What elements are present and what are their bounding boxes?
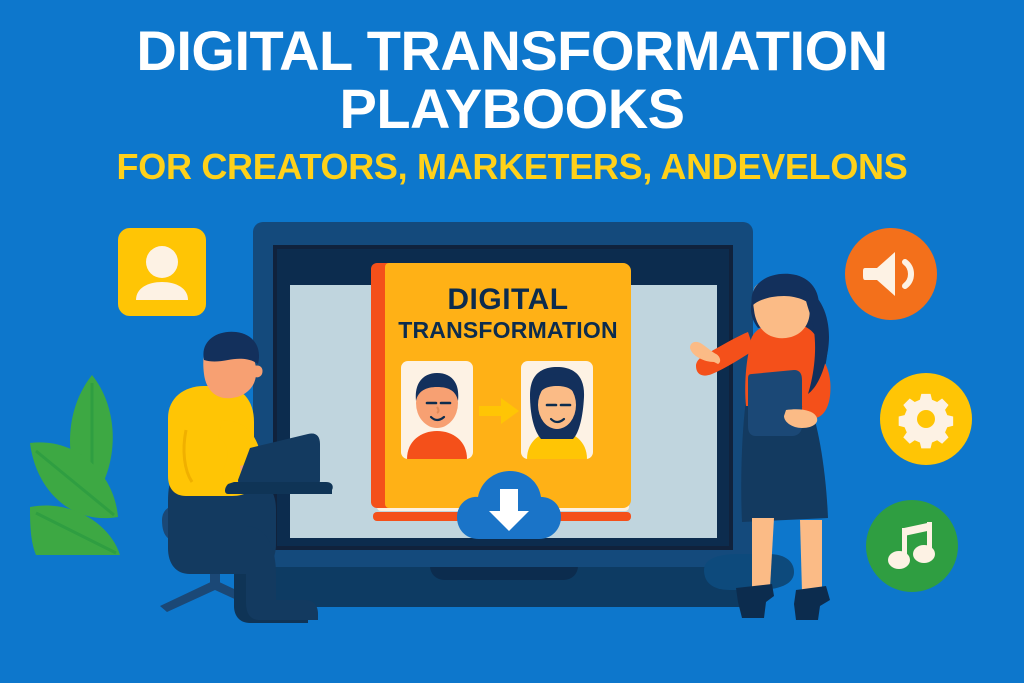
gear-icon[interactable] — [880, 373, 972, 465]
speaker-icon[interactable] — [845, 228, 937, 320]
cloud-download-icon[interactable] — [455, 465, 563, 539]
poster-canvas: DIGITAL TRANSFORMATION PLAYBOOKS FOR CRE… — [0, 0, 1024, 683]
page-title-line-2: PLAYBOOKS — [0, 80, 1024, 138]
heading-block: DIGITAL TRANSFORMATION PLAYBOOKS FOR CRE… — [0, 22, 1024, 188]
book-cover-title-line-1: DIGITAL — [385, 283, 631, 317]
page-subtitle: FOR CREATORS, MARKETERS, ANDEVELONS — [0, 146, 1024, 188]
book-cover-title-line-2: TRANSFORMATION — [385, 317, 631, 344]
transformation-arrow-icon — [479, 398, 519, 424]
music-note-icon[interactable] — [866, 500, 958, 592]
woman-pointing — [690, 270, 860, 640]
book-graphic: DIGITAL TRANSFORMATION — [371, 263, 631, 533]
page-title-line-1: DIGITAL TRANSFORMATION — [0, 22, 1024, 80]
portrait-card-man — [401, 361, 473, 459]
portrait-card-woman — [521, 361, 593, 459]
user-icon[interactable] — [118, 228, 206, 316]
man-with-laptop — [100, 330, 330, 630]
